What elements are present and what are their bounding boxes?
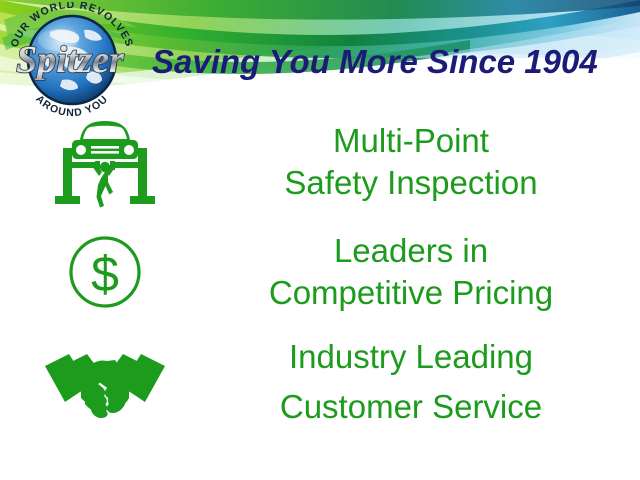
feature-text-competitive-pricing: Leaders in Competitive Pricing xyxy=(210,230,640,314)
feature-row-safety-inspection: Multi-Point Safety Inspection xyxy=(0,110,640,214)
svg-text:$: $ xyxy=(91,246,119,302)
feature-row-competitive-pricing: $ Leaders in Competitive Pricing xyxy=(0,224,640,320)
feature-line1-0: Multi-Point xyxy=(333,122,489,159)
logo-brand-name: Spitzer xyxy=(16,39,125,81)
dollar-circle-icon: $ xyxy=(66,233,144,311)
feature-line2-0: Safety Inspection xyxy=(210,162,612,204)
feature-text-safety-inspection: Multi-Point Safety Inspection xyxy=(210,120,640,204)
dollar-circle-icon-wrap: $ xyxy=(0,233,210,311)
feature-line2-1: Competitive Pricing xyxy=(210,272,612,314)
feature-line1-1: Leaders in xyxy=(334,232,488,269)
car-lift-icon-wrap xyxy=(0,114,210,210)
feature-line2-2: Customer Service xyxy=(210,382,612,432)
feature-text-customer-service: Industry Leading Customer Service xyxy=(210,332,640,432)
spitzer-logo: OUR WORLD REVOLVES AROUND YOU Spitzer xyxy=(2,2,142,118)
page-title: Saving You More Since 1904 xyxy=(152,42,638,86)
feature-line1-2: Industry Leading xyxy=(289,338,533,375)
car-lift-icon xyxy=(51,114,159,210)
handshake-icon-wrap xyxy=(0,342,210,422)
handshake-icon xyxy=(43,342,167,422)
feature-list: Multi-Point Safety Inspection $ Leaders … xyxy=(0,104,640,444)
feature-row-customer-service: Industry Leading Customer Service xyxy=(0,330,640,434)
